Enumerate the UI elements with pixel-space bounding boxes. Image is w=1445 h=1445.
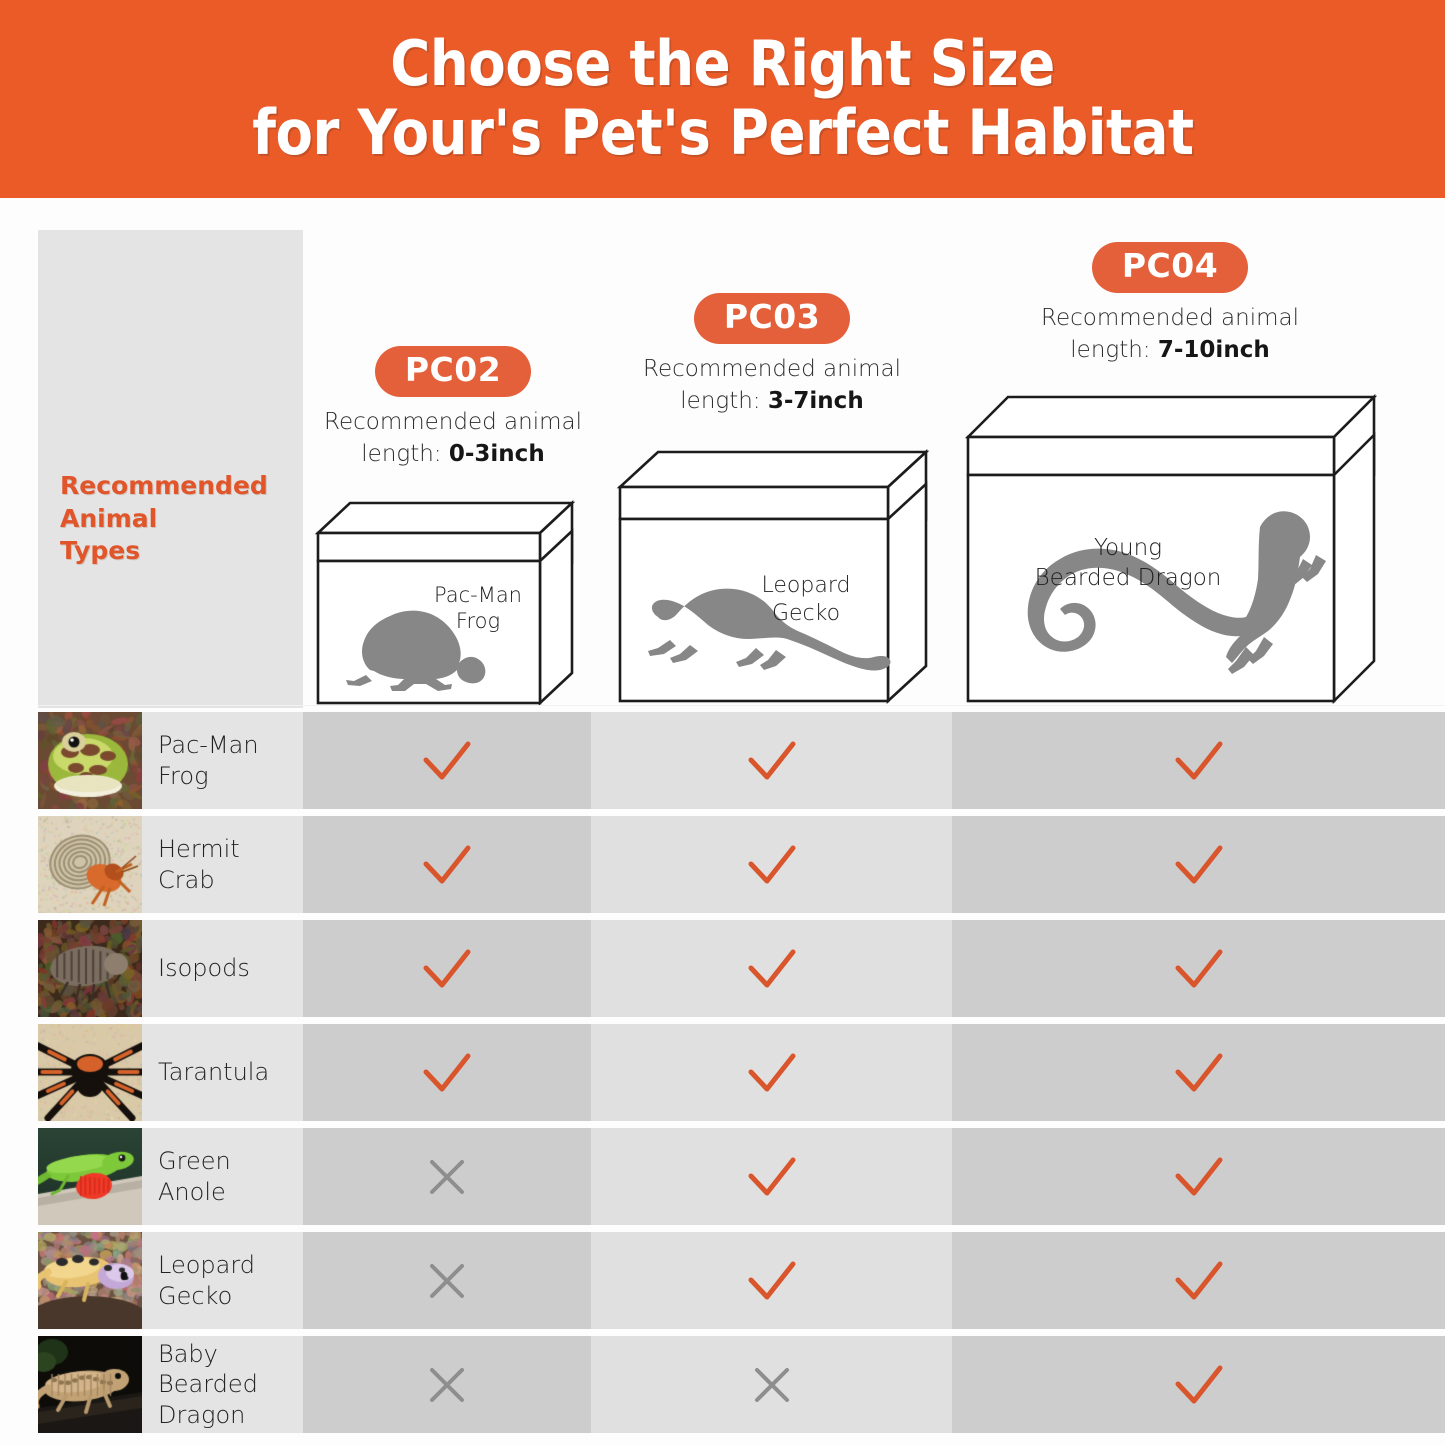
pc02-desc-value: 0-3inch: [449, 441, 545, 467]
check-icon: [745, 1258, 799, 1304]
pc03-desc-prefix: Recommended animal: [643, 356, 901, 382]
check-icon: [745, 842, 799, 888]
check-icon: [420, 842, 474, 888]
animal-name-line-2: Anole: [158, 1177, 231, 1207]
pc03-code-badge: PC03: [694, 293, 850, 344]
animal-thumbnail: [38, 920, 142, 1017]
check-icon: [1172, 1154, 1226, 1200]
animal-name-cell: HermitCrab: [38, 816, 303, 913]
animal-name-label: Pac-ManFrog: [142, 730, 259, 791]
pc04-code-badge: PC04: [1092, 242, 1248, 293]
compat-cell-pc02: [303, 712, 591, 809]
cross-icon: [420, 1154, 474, 1200]
compat-cell-pc03: [591, 1232, 952, 1329]
compat-cell-pc04: [952, 1232, 1445, 1329]
pc04-desc-label: length:: [1070, 337, 1150, 363]
sidebar-title-line-1: Recommended: [60, 470, 300, 503]
animal-name-cell: GreenAnole: [38, 1128, 303, 1225]
check-icon: [1172, 1050, 1226, 1096]
header-title-line-2: for Your's Pet's Perfect Habitat: [252, 100, 1193, 167]
pc03-box-illustration: Leopard Gecko: [612, 432, 932, 710]
compat-cell-pc04: [952, 920, 1445, 1017]
animal-thumbnail: [38, 1232, 142, 1329]
animal-name-line-1: Green: [158, 1146, 231, 1176]
compat-cell-pc03: [591, 816, 952, 913]
pc03-desc-value: 3-7inch: [768, 388, 864, 414]
compat-cell-pc02: [303, 1232, 591, 1329]
pc02-desc-prefix: Recommended animal: [324, 409, 582, 435]
check-icon: [1172, 842, 1226, 888]
header-title-line-1: Choose the Right Size: [390, 31, 1054, 98]
table-row: GreenAnole: [38, 1128, 1445, 1225]
compat-cell-pc02: [303, 1336, 591, 1433]
pc02-code-badge: PC02: [375, 346, 531, 397]
product-comparison-area: Recommended Animal Types PC02 Recommende…: [0, 198, 1445, 710]
check-icon: [745, 738, 799, 784]
check-icon: [745, 946, 799, 992]
compat-cell-pc03: [591, 920, 952, 1017]
compat-cell-pc02: [303, 1024, 591, 1121]
animal-name-line-1: Leopard: [158, 1250, 255, 1280]
animal-name-line-1: Pac-Man: [158, 730, 259, 760]
table-row: Tarantula: [38, 1024, 1445, 1121]
table-row: Isopods: [38, 920, 1445, 1017]
pc04-box-animal-label-line-2: Bearded Dragon: [1035, 565, 1222, 591]
pc04-badge-wrap: PC04: [960, 242, 1380, 293]
animal-name-cell: Isopods: [38, 920, 303, 1017]
animal-thumbnail: [38, 1128, 142, 1225]
animal-name-cell: LeopardGecko: [38, 1232, 303, 1329]
sidebar-title-line-3: Types: [60, 535, 300, 568]
check-icon: [420, 1050, 474, 1096]
compat-cell-pc04: [952, 1336, 1445, 1433]
animal-thumbnail: [38, 816, 142, 913]
pc03-description: Recommended animal length: 3-7inch: [612, 353, 932, 418]
pc03-badge-wrap: PC03: [612, 293, 932, 344]
compat-cell-pc02: [303, 1128, 591, 1225]
product-spec-pc03: PC03 Recommended animal length: 3-7inch: [612, 293, 932, 710]
pc02-badge-wrap: PC02: [310, 346, 596, 397]
animal-name-line-1: Hermit: [158, 834, 240, 864]
check-icon: [420, 738, 474, 784]
animal-name-line-1: Tarantula: [158, 1057, 269, 1087]
compat-cell-pc03: [591, 1336, 952, 1433]
animal-name-line-2: Dragon: [158, 1400, 303, 1430]
pc02-box-svg: Pac-Man Frog: [310, 485, 578, 713]
animal-name-label: Baby BeardedDragon: [142, 1339, 303, 1430]
pc02-box-animal-label-line-1: Pac-Man: [434, 583, 522, 607]
pc03-box-svg: Leopard Gecko: [612, 432, 932, 710]
animal-name-cell: Tarantula: [38, 1024, 303, 1121]
animal-name-line-2: Gecko: [158, 1281, 255, 1311]
check-icon: [1172, 946, 1226, 992]
animal-name-cell: Pac-ManFrog: [38, 712, 303, 809]
recommended-animal-types-panel: Recommended Animal Types: [38, 230, 303, 708]
animal-name-line-2: Frog: [158, 761, 259, 791]
pc04-box-svg: Young Bearded Dragon: [960, 379, 1380, 709]
compat-cell-pc02: [303, 920, 591, 1017]
pc04-description: Recommended animal length: 7-10inch: [960, 302, 1380, 367]
table-top-divider: [38, 705, 1445, 706]
product-spec-pc04: PC04 Recommended animal length: 7-10inch: [960, 242, 1380, 709]
check-icon: [1172, 738, 1226, 784]
compat-cell-pc04: [952, 712, 1445, 809]
pc03-box-animal-label-line-1: Leopard: [762, 573, 851, 598]
pc03-desc-label: length:: [680, 388, 760, 414]
table-row: Baby BeardedDragon: [38, 1336, 1445, 1433]
pc04-box-illustration: Young Bearded Dragon: [960, 379, 1380, 709]
cross-icon: [420, 1362, 474, 1408]
animal-name-line-2: Crab: [158, 865, 240, 895]
product-spec-pc02: PC02 Recommended animal length: 0-3inch: [310, 346, 596, 713]
animal-name-label: Isopods: [142, 953, 250, 983]
animal-name-cell: Baby BeardedDragon: [38, 1336, 303, 1433]
table-row: LeopardGecko: [38, 1232, 1445, 1329]
sidebar-title-line-2: Animal: [60, 503, 300, 536]
pc03-box-animal-label-line-2: Gecko: [772, 601, 840, 626]
compat-cell-pc04: [952, 1024, 1445, 1121]
check-icon: [420, 946, 474, 992]
animal-name-line-1: Isopods: [158, 953, 250, 983]
animal-name-line-1: Baby Bearded: [158, 1339, 303, 1400]
size-guide-infographic: Choose the Right Size for Your's Pet's P…: [0, 0, 1445, 1445]
pc02-box-animal-label-line-2: Frog: [456, 609, 500, 633]
animal-thumbnail: [38, 1336, 142, 1433]
animal-thumbnail: [38, 1024, 142, 1121]
pc04-desc-value: 7-10inch: [1158, 337, 1270, 363]
pc02-desc-label: length:: [361, 441, 441, 467]
animal-name-label: LeopardGecko: [142, 1250, 255, 1311]
compat-cell-pc04: [952, 816, 1445, 913]
compat-cell-pc04: [952, 1128, 1445, 1225]
animal-name-label: HermitCrab: [142, 834, 240, 895]
compatibility-table: Pac-ManFrogHermitCrabIsopodsTarantulaGre…: [0, 712, 1445, 1440]
pc04-desc-prefix: Recommended animal: [1041, 305, 1299, 331]
table-row: Pac-ManFrog: [38, 712, 1445, 809]
check-icon: [745, 1154, 799, 1200]
animal-name-label: Tarantula: [142, 1057, 269, 1087]
pc02-box-illustration: Pac-Man Frog: [310, 485, 596, 713]
header-banner: Choose the Right Size for Your's Pet's P…: [0, 0, 1445, 198]
animal-name-label: GreenAnole: [142, 1146, 231, 1207]
pc04-box-animal-label-line-1: Young: [1094, 535, 1162, 561]
compat-cell-pc03: [591, 1024, 952, 1121]
sidebar-title: Recommended Animal Types: [60, 470, 300, 568]
table-row: HermitCrab: [38, 816, 1445, 913]
animal-thumbnail: [38, 712, 142, 809]
compat-cell-pc03: [591, 1128, 952, 1225]
check-icon: [745, 1050, 799, 1096]
cross-icon: [420, 1258, 474, 1304]
cross-icon: [745, 1362, 799, 1408]
check-icon: [1172, 1258, 1226, 1304]
compat-cell-pc03: [591, 712, 952, 809]
pc02-description: Recommended animal length: 0-3inch: [310, 406, 596, 471]
compat-cell-pc02: [303, 816, 591, 913]
check-icon: [1172, 1362, 1226, 1408]
